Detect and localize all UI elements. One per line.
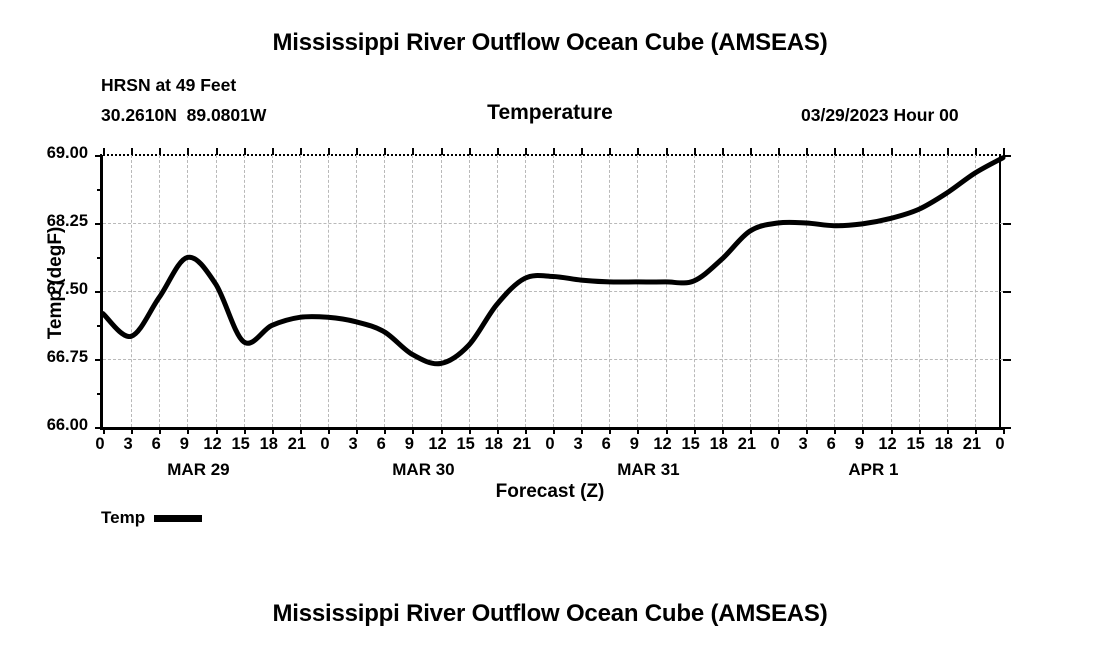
x-axis-tick [862,427,864,434]
x-axis-tick [187,427,189,434]
x-axis-tick [244,148,246,155]
x-axis-tick [975,148,977,155]
x-axis-tick [694,427,696,434]
page-title-bottom: Mississippi River Outflow Ocean Cube (AM… [0,600,1100,628]
x-axis-tick [694,148,696,155]
y-axis-tick [1003,291,1011,293]
x-axis-tick [919,148,921,155]
legend-label-temp: Temp [101,508,145,528]
x-axis-tick [609,427,611,434]
plot-area: Temp (degF) [100,155,1003,430]
x-axis-tick [159,427,161,434]
y-axis-tick [95,155,103,157]
x-axis-tick [525,148,527,155]
x-axis-day-label: APR 1 [803,460,943,480]
x-axis-tick [131,427,133,434]
x-axis-tick [778,427,780,434]
x-axis-tick [637,148,639,155]
x-axis-tick-label: 0 [980,435,1020,454]
y-axis-tick [95,291,103,293]
x-axis-tick [216,148,218,155]
x-axis-tick [103,427,105,434]
chart-page: Mississippi River Outflow Ocean Cube (AM… [0,0,1100,650]
x-axis-tick [384,148,386,155]
x-axis-tick [834,148,836,155]
x-axis-tick [412,148,414,155]
x-axis-day-label: MAR 30 [353,460,493,480]
legend-swatch-temp [154,515,202,522]
x-axis-tick [497,427,499,434]
x-axis-tick [806,427,808,434]
x-axis-tick [441,148,443,155]
x-axis-tick [553,427,555,434]
x-axis-tick [328,427,330,434]
x-axis-tick [469,427,471,434]
y-axis-tick [1003,427,1011,429]
x-axis-tick [412,427,414,434]
station-depth-label: HRSN at 49 Feet [101,75,236,96]
x-axis-title: Forecast (Z) [0,481,1100,503]
series-line-temp [103,158,1003,364]
x-axis-tick [862,148,864,155]
x-axis-tick [581,148,583,155]
x-axis-day-label: MAR 31 [578,460,718,480]
x-axis-tick [581,427,583,434]
x-axis-tick [272,427,274,434]
x-axis-tick [919,427,921,434]
x-axis-tick [441,427,443,434]
x-axis-tick [103,148,105,155]
x-axis-tick [356,427,358,434]
x-axis-tick [328,148,330,155]
y-axis-tick [1003,359,1011,361]
x-axis-tick [722,148,724,155]
x-axis-tick [722,427,724,434]
y-axis-tick-label: 66.00 [18,416,88,435]
page-title-top: Mississippi River Outflow Ocean Cube (AM… [0,29,1100,57]
y-axis-tick-label: 69.00 [18,144,88,163]
y-axis-tick-label: 66.75 [18,348,88,367]
x-axis-tick [187,148,189,155]
x-axis-tick [778,148,780,155]
x-axis-tick [975,427,977,434]
y-axis-tick [95,427,103,429]
x-axis-tick [1003,148,1005,155]
forecast-datetime-label: 03/29/2023 Hour 00 [801,105,959,126]
x-axis-tick [356,148,358,155]
x-axis-tick [244,427,246,434]
x-axis-tick [300,148,302,155]
x-axis-tick [131,148,133,155]
x-axis-tick [497,148,499,155]
x-axis-tick [159,148,161,155]
x-axis-tick [666,148,668,155]
x-axis-tick [834,427,836,434]
x-axis-tick [891,148,893,155]
temperature-series [103,155,1003,427]
x-axis-tick [272,148,274,155]
y-axis-tick-label: 68.25 [18,212,88,231]
x-axis-tick [666,427,668,434]
y-axis-tick [1003,223,1011,225]
x-axis-tick [806,148,808,155]
x-axis-tick [750,148,752,155]
x-axis-tick [216,427,218,434]
legend: Temp [101,508,202,528]
y-axis-tick [95,223,103,225]
x-axis-tick [947,427,949,434]
x-axis-tick [891,427,893,434]
x-axis-tick [637,427,639,434]
x-axis-tick [609,148,611,155]
x-axis-tick [384,427,386,434]
x-axis-tick [469,148,471,155]
x-axis-tick [525,427,527,434]
y-axis-tick [95,359,103,361]
x-axis-tick [947,148,949,155]
x-axis-tick [300,427,302,434]
y-axis-tick-label: 67.50 [18,280,88,299]
x-axis-day-label: MAR 29 [128,460,268,480]
x-axis-tick [750,427,752,434]
x-axis-tick [553,148,555,155]
